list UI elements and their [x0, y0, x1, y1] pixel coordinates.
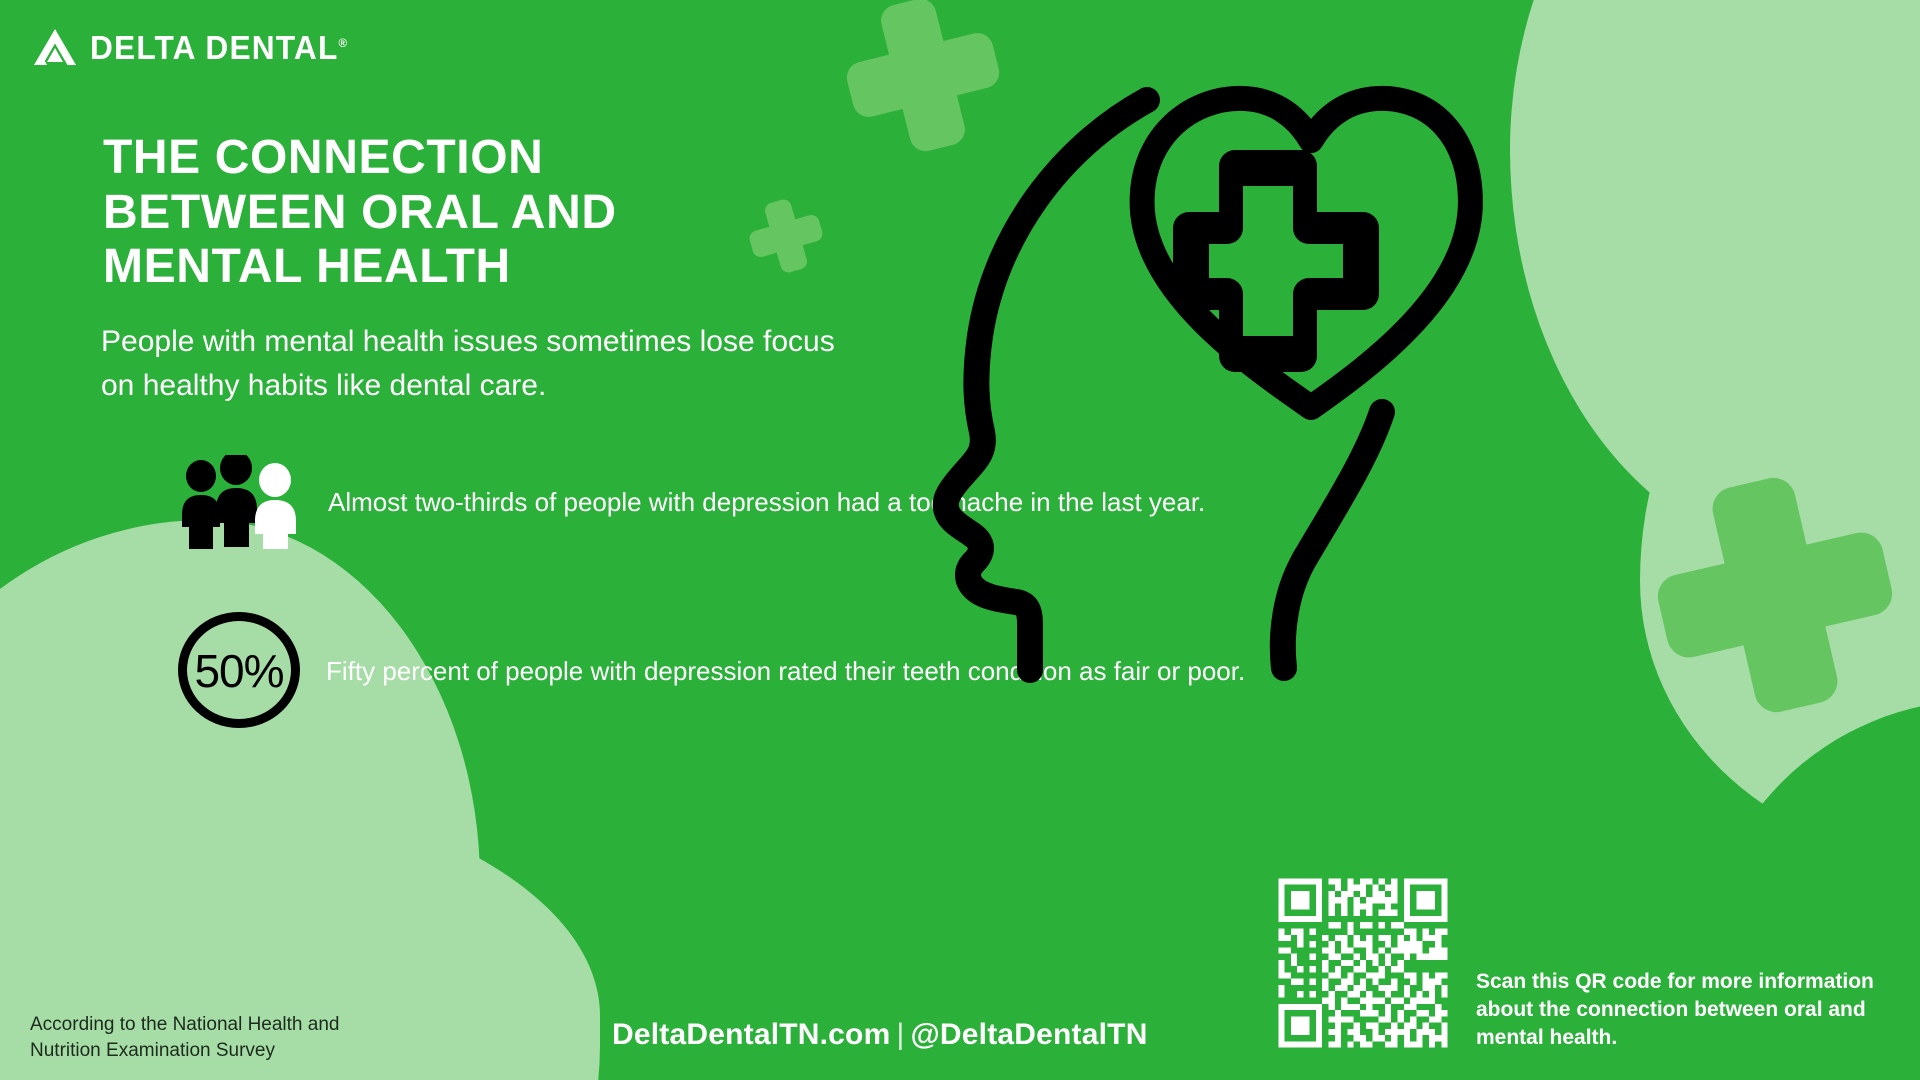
three-people-icon [180, 455, 306, 549]
qr-code-block[interactable] [1272, 872, 1454, 1054]
qr-code-caption: Scan this QR code for more information a… [1476, 968, 1876, 1052]
percent-value: 50% [194, 648, 283, 694]
neck-outline [1283, 412, 1382, 668]
infographic-canvas: DELTA DENTAL® THE CONNECTION BETWEEN ORA… [0, 0, 1920, 1080]
brand-logo: DELTA DENTAL® [33, 27, 358, 67]
footer-links: DeltaDentalTN.com|@DeltaDentalTN [612, 1018, 1148, 1052]
qr-code-icon[interactable] [1272, 872, 1454, 1054]
delta-triangle-logo-icon [33, 27, 77, 67]
brand-logo-text: DELTA DENTAL® [90, 31, 347, 64]
percent-circle-badge: 50% [176, 612, 302, 730]
website-link[interactable]: DeltaDentalTN.com [612, 1018, 890, 1051]
source-citation: According to the National Health and Nut… [30, 1012, 370, 1064]
head-profile-outline [946, 100, 1147, 670]
social-handle-link[interactable]: @DeltaDentalTN [910, 1018, 1147, 1051]
page-title: THE CONNECTION BETWEEN ORAL AND MENTAL H… [103, 131, 763, 295]
page-subtitle: People with mental health issues sometim… [101, 320, 841, 408]
head-profile-with-heart-icon [900, 40, 1600, 720]
registered-mark: ® [338, 36, 346, 50]
footer-separator: | [890, 1018, 910, 1051]
